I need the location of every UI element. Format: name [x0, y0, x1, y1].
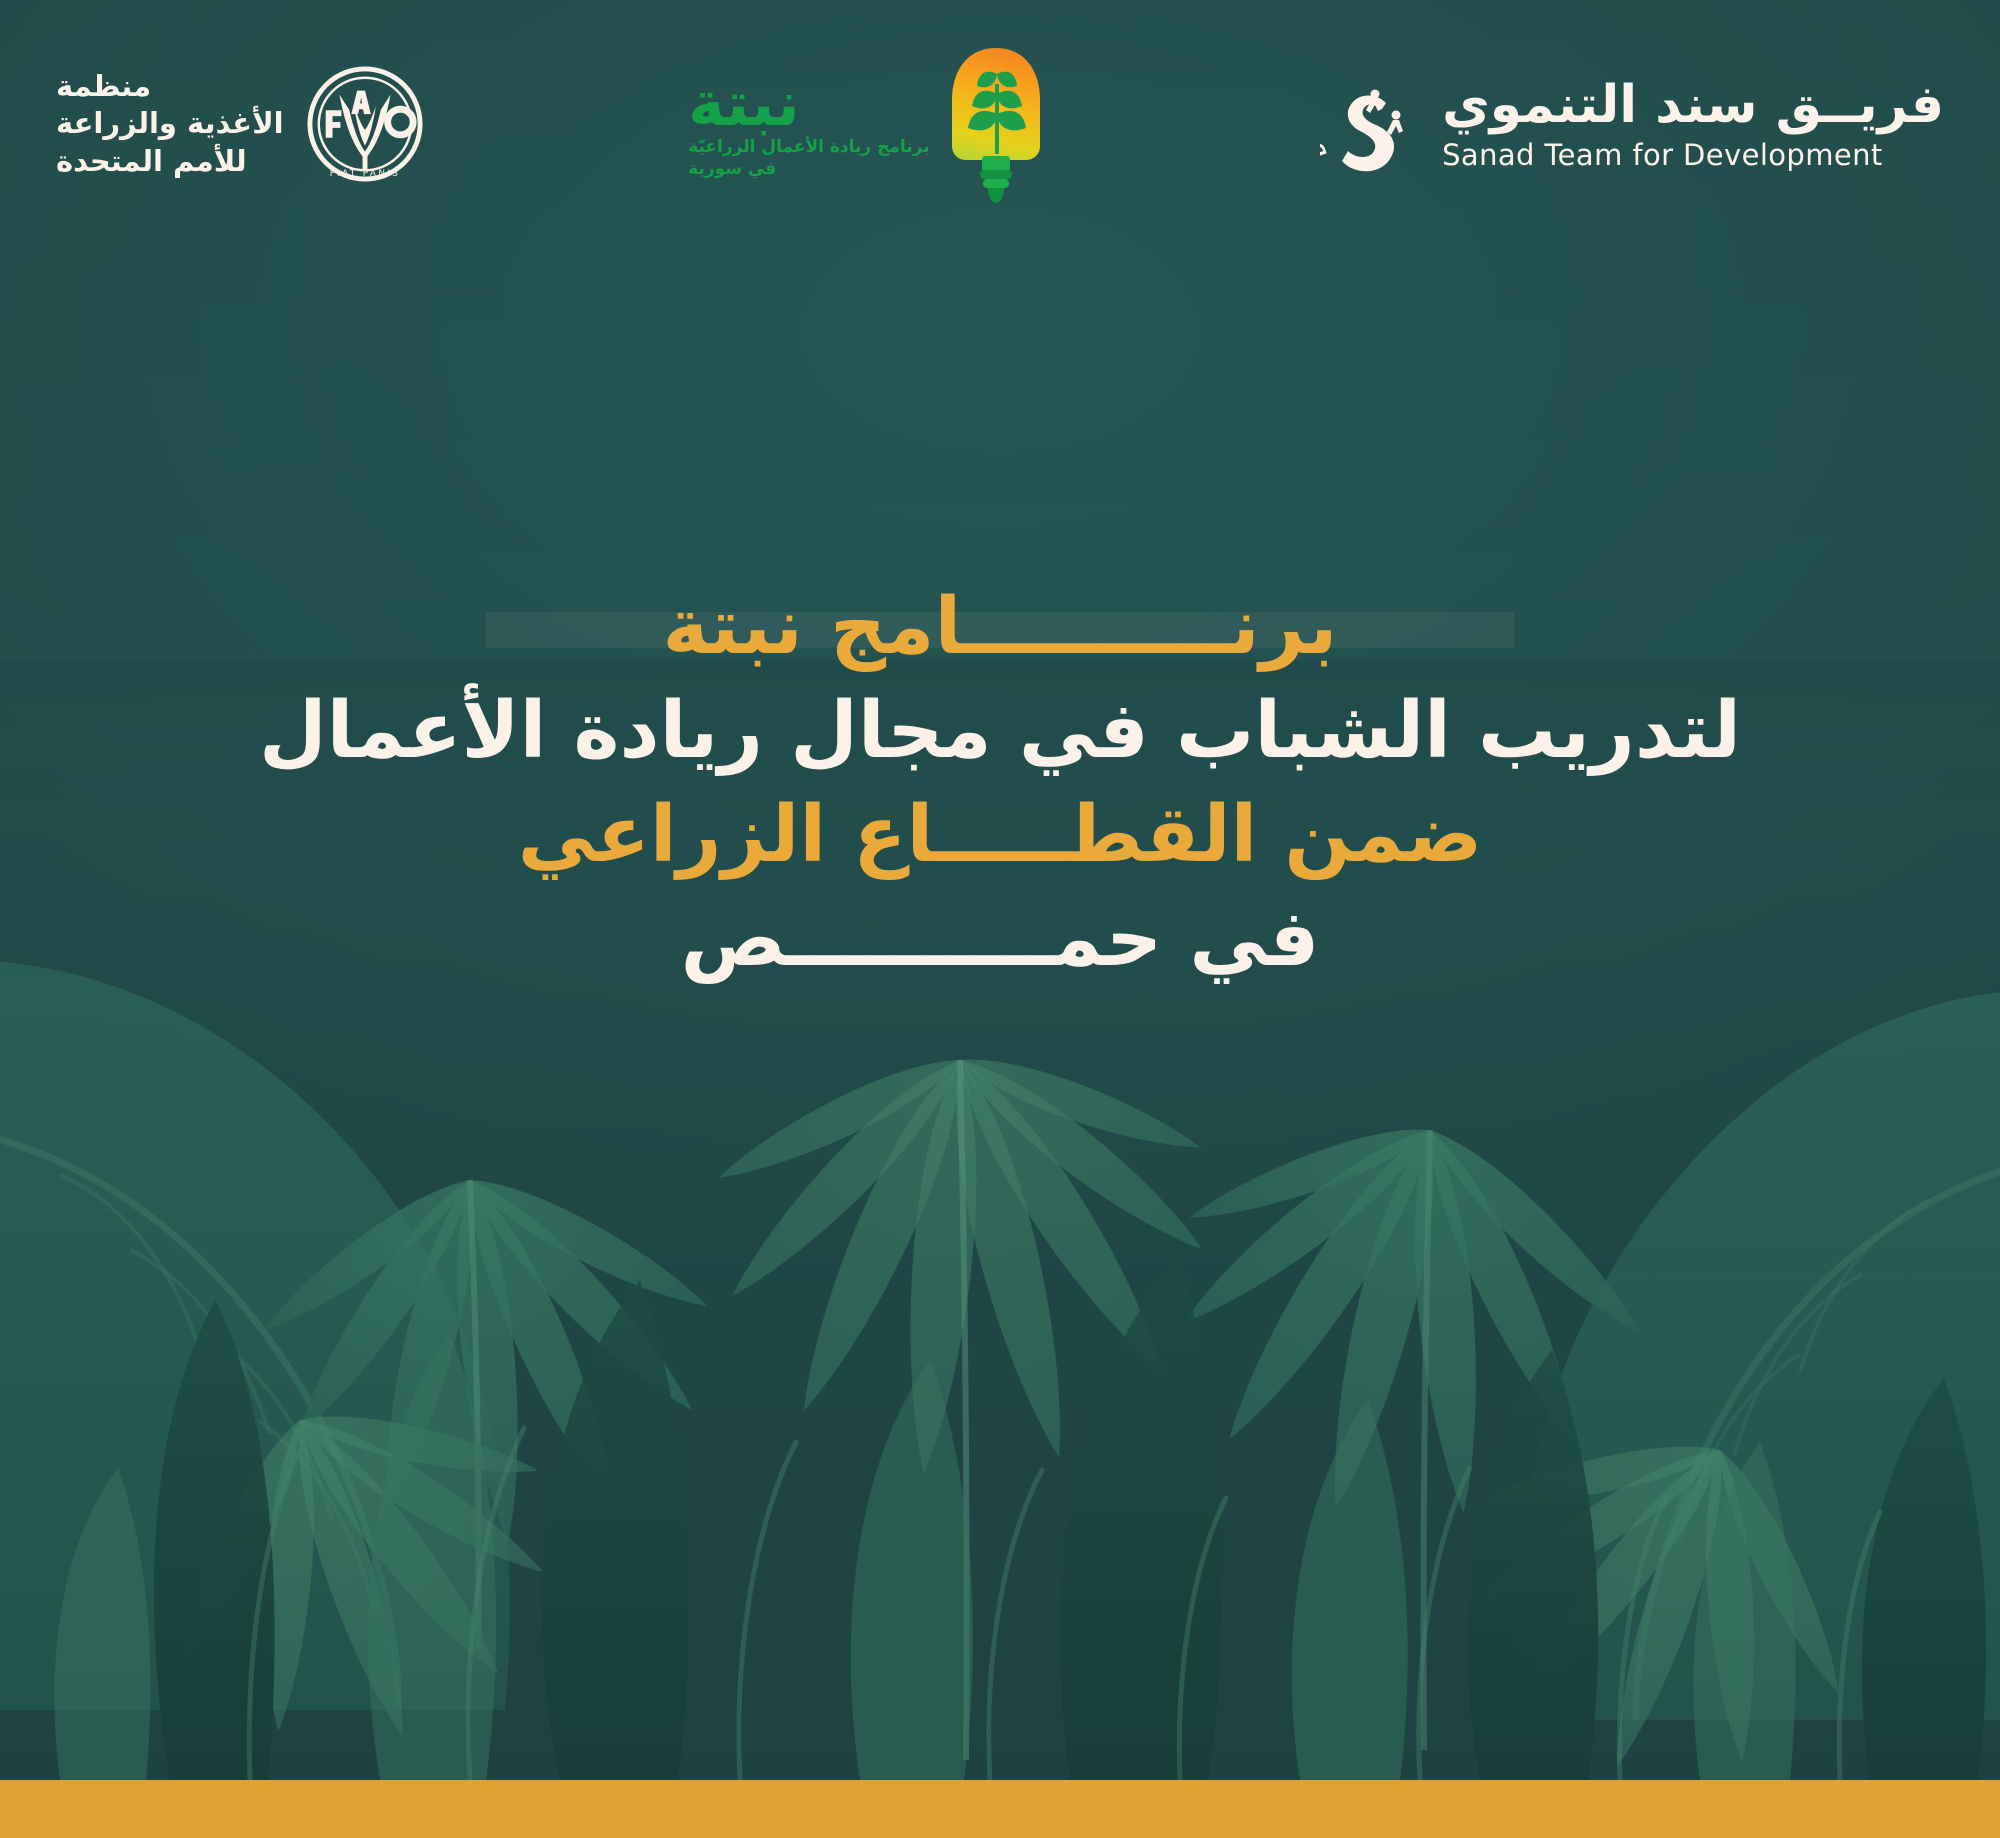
- header-logo-bar: منظمة الأغذية والزراعة للأمم المتحدة: [0, 0, 2000, 220]
- sanad-arabic-name: فريــق سند التنموي: [1442, 79, 1944, 131]
- fao-line2: الأغذية والزراعة: [56, 105, 284, 142]
- nabta-logo: نبتة برنامج ريادة الأعمال الزراعيّة في س…: [688, 42, 1055, 212]
- fao-line1: منظمة: [56, 68, 151, 105]
- headline-line-4: في حمــــــــــص: [0, 900, 2000, 978]
- sanad-english-name: Sanad Team for Development: [1442, 141, 1883, 170]
- fao-emblem-icon: FIAT PANIS: [306, 65, 424, 183]
- fao-logo-text: منظمة الأغذية والزراعة للأمم المتحدة: [56, 68, 284, 179]
- svg-text:FIAT PANIS: FIAT PANIS: [329, 169, 400, 179]
- nabta-tagline-line1: برنامج ريادة الأعمال الزراعيّة: [688, 137, 929, 157]
- poster-canvas: منظمة الأغذية والزراعة للأمم المتحدة: [0, 0, 2000, 1838]
- nabta-logo-text: نبتة برنامج ريادة الأعمال الزراعيّة في س…: [688, 75, 929, 180]
- headline-block: برنــــــــــامج نبتة لتدريب الشباب في م…: [0, 560, 2000, 978]
- nabta-name: نبتة: [688, 75, 800, 134]
- sanad-logo-text: فريــق سند التنموي Sanad Team for Develo…: [1442, 79, 1944, 170]
- svg-text:SANAD: SANAD: [1320, 63, 1332, 160]
- fao-line3: للأمم المتحدة: [56, 143, 247, 180]
- headline-line-1-text: برنــــــــــامج نبتة: [663, 582, 1338, 672]
- lightbulb-sprout-icon: [936, 42, 1056, 212]
- nabta-tagline-line2: في سورية: [688, 159, 776, 179]
- sanad-emblem-icon: SANAD: [1320, 63, 1428, 185]
- fao-logo: منظمة الأغذية والزراعة للأمم المتحدة: [56, 65, 424, 183]
- sanad-logo: SANAD فريــق سند التنموي Sanad Team for …: [1320, 63, 1944, 185]
- headline-line-1: برنــــــــــامج نبتة: [0, 560, 2000, 666]
- headline-line-2: لتدريب الشباب في مجال ريادة الأعمال: [0, 692, 2000, 770]
- headline-line-3: ضمن القطـــــاع الزراعي: [0, 796, 2000, 874]
- bottom-accent-bar: [0, 1780, 2000, 1838]
